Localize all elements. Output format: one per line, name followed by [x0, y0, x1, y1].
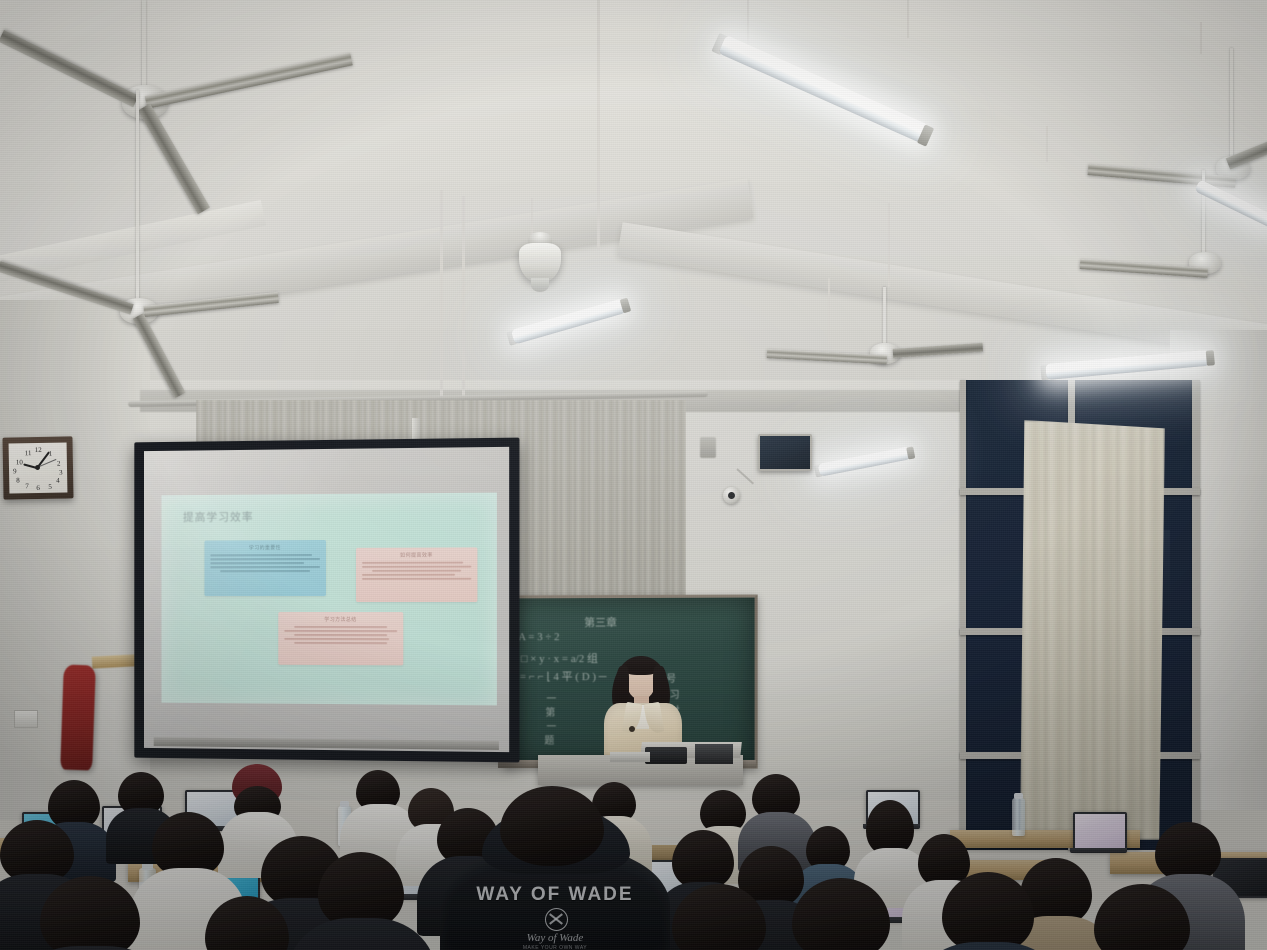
wall-outlet: [14, 710, 38, 728]
wall-clock: 12 1 2 3 4 5 6 7 8 9 10 11: [2, 436, 73, 499]
red-jacket: [60, 664, 96, 770]
slide-text-line: [362, 562, 463, 564]
slide-box-blue: 学习的重要性: [204, 540, 326, 596]
presentation-slide: 提高学习效率 学习的重要性 如何提高效率: [161, 493, 496, 706]
chalk-text: 题: [544, 732, 554, 747]
light-hanger: [828, 278, 830, 344]
slide-text-line: [294, 626, 387, 628]
wall-junction-box: [700, 437, 716, 458]
slide-box-heading: 学习的重要性: [204, 544, 326, 551]
light-hanger: [1046, 126, 1048, 162]
slide-box-heading: 如何提高效率: [356, 551, 477, 558]
ceiling-speaker-pendant: [514, 232, 566, 294]
chalk-text: x = ⌐ ⌐ ⌊ 4 平 ( D ) ─: [512, 668, 607, 684]
slide-text-line: [372, 570, 461, 572]
slide-text-line: [362, 574, 455, 576]
camera-lens-icon: [728, 492, 735, 499]
chalk-text: 一: [546, 718, 556, 733]
clock-numeral: 4: [56, 477, 60, 485]
light-hanger: [888, 203, 890, 287]
clock-face: 12 1 2 3 4 5 6 7 8 9 10 11: [9, 442, 68, 493]
slide-text-line: [284, 630, 397, 632]
screen-surface: 提高学习效率 学习的重要性 如何提高效率: [144, 447, 509, 752]
podium-monitor: [645, 747, 687, 764]
slide-text-line: [220, 570, 310, 572]
chalk-text: 第: [545, 704, 555, 719]
podium-keyboard: [610, 752, 650, 762]
clock-numeral: 7: [25, 482, 29, 490]
clock-numeral: 3: [59, 469, 63, 477]
slide-text-line: [362, 566, 471, 568]
hoodie-script-text: Way of Wade: [440, 932, 670, 944]
bottle-cap: [340, 801, 349, 807]
projection-screen: 提高学习效率 学习的重要性 如何提高效率: [134, 438, 519, 763]
water-bottle: [1012, 798, 1025, 836]
classroom-photo: 12 1 2 3 4 5 6 7 8 9 10 11 第三章 ·A = 3 ÷ …: [0, 0, 1267, 950]
clock-numeral: 8: [16, 476, 20, 484]
teacher-coat-button: [629, 726, 635, 732]
student-head: [500, 786, 604, 866]
slide-text-line: [210, 558, 320, 560]
slide-title: 提高学习效率: [183, 509, 254, 525]
light-hanger: [907, 0, 909, 38]
light-hanger: [531, 198, 533, 234]
slide-text-line: [284, 638, 389, 640]
hoodie-bottom-text: MAKE YOUR OWN WAY: [440, 945, 670, 950]
curtain-right: [1020, 420, 1165, 840]
slide-box-pink-right: 如何提高效率: [356, 547, 477, 602]
chalk-text: ·A = 3 ÷ 2: [515, 631, 560, 643]
light-hanger: [1200, 22, 1202, 54]
wall-speaker: [758, 434, 812, 471]
chalk-text: 一: [546, 690, 556, 705]
screen-lower-bar: [154, 737, 499, 750]
slide-text-line: [294, 642, 387, 644]
slide-text-line: [210, 554, 312, 556]
clock-numeral: 9: [13, 467, 17, 475]
clock-numeral: 12: [35, 446, 42, 454]
hoodie-top-text: WAY OF WADE: [440, 884, 670, 906]
light-hanger: [597, 0, 600, 250]
slide-box-pink-bottom: 学习方法总结: [278, 612, 403, 665]
clock-numeral: 2: [57, 460, 61, 468]
hoodie-emblem-icon: [545, 908, 568, 931]
chalk-text: 第三章: [584, 614, 617, 630]
bottle-cap: [1014, 793, 1023, 799]
clock-numeral: 6: [36, 484, 40, 492]
clock-numeral: 11: [25, 449, 32, 457]
slide-text-line: [362, 578, 471, 580]
slide-box-heading: 学习方法总结: [278, 616, 403, 623]
clock-numeral: 10: [16, 458, 23, 466]
slide-text-line: [210, 562, 304, 564]
podium-equipment: [695, 744, 733, 764]
chalk-text: · □ × y · x = a/2 组: [515, 650, 598, 666]
slide-text-line: [294, 634, 387, 636]
clock-numeral: 5: [48, 483, 52, 491]
slide-text-line: [210, 566, 320, 568]
